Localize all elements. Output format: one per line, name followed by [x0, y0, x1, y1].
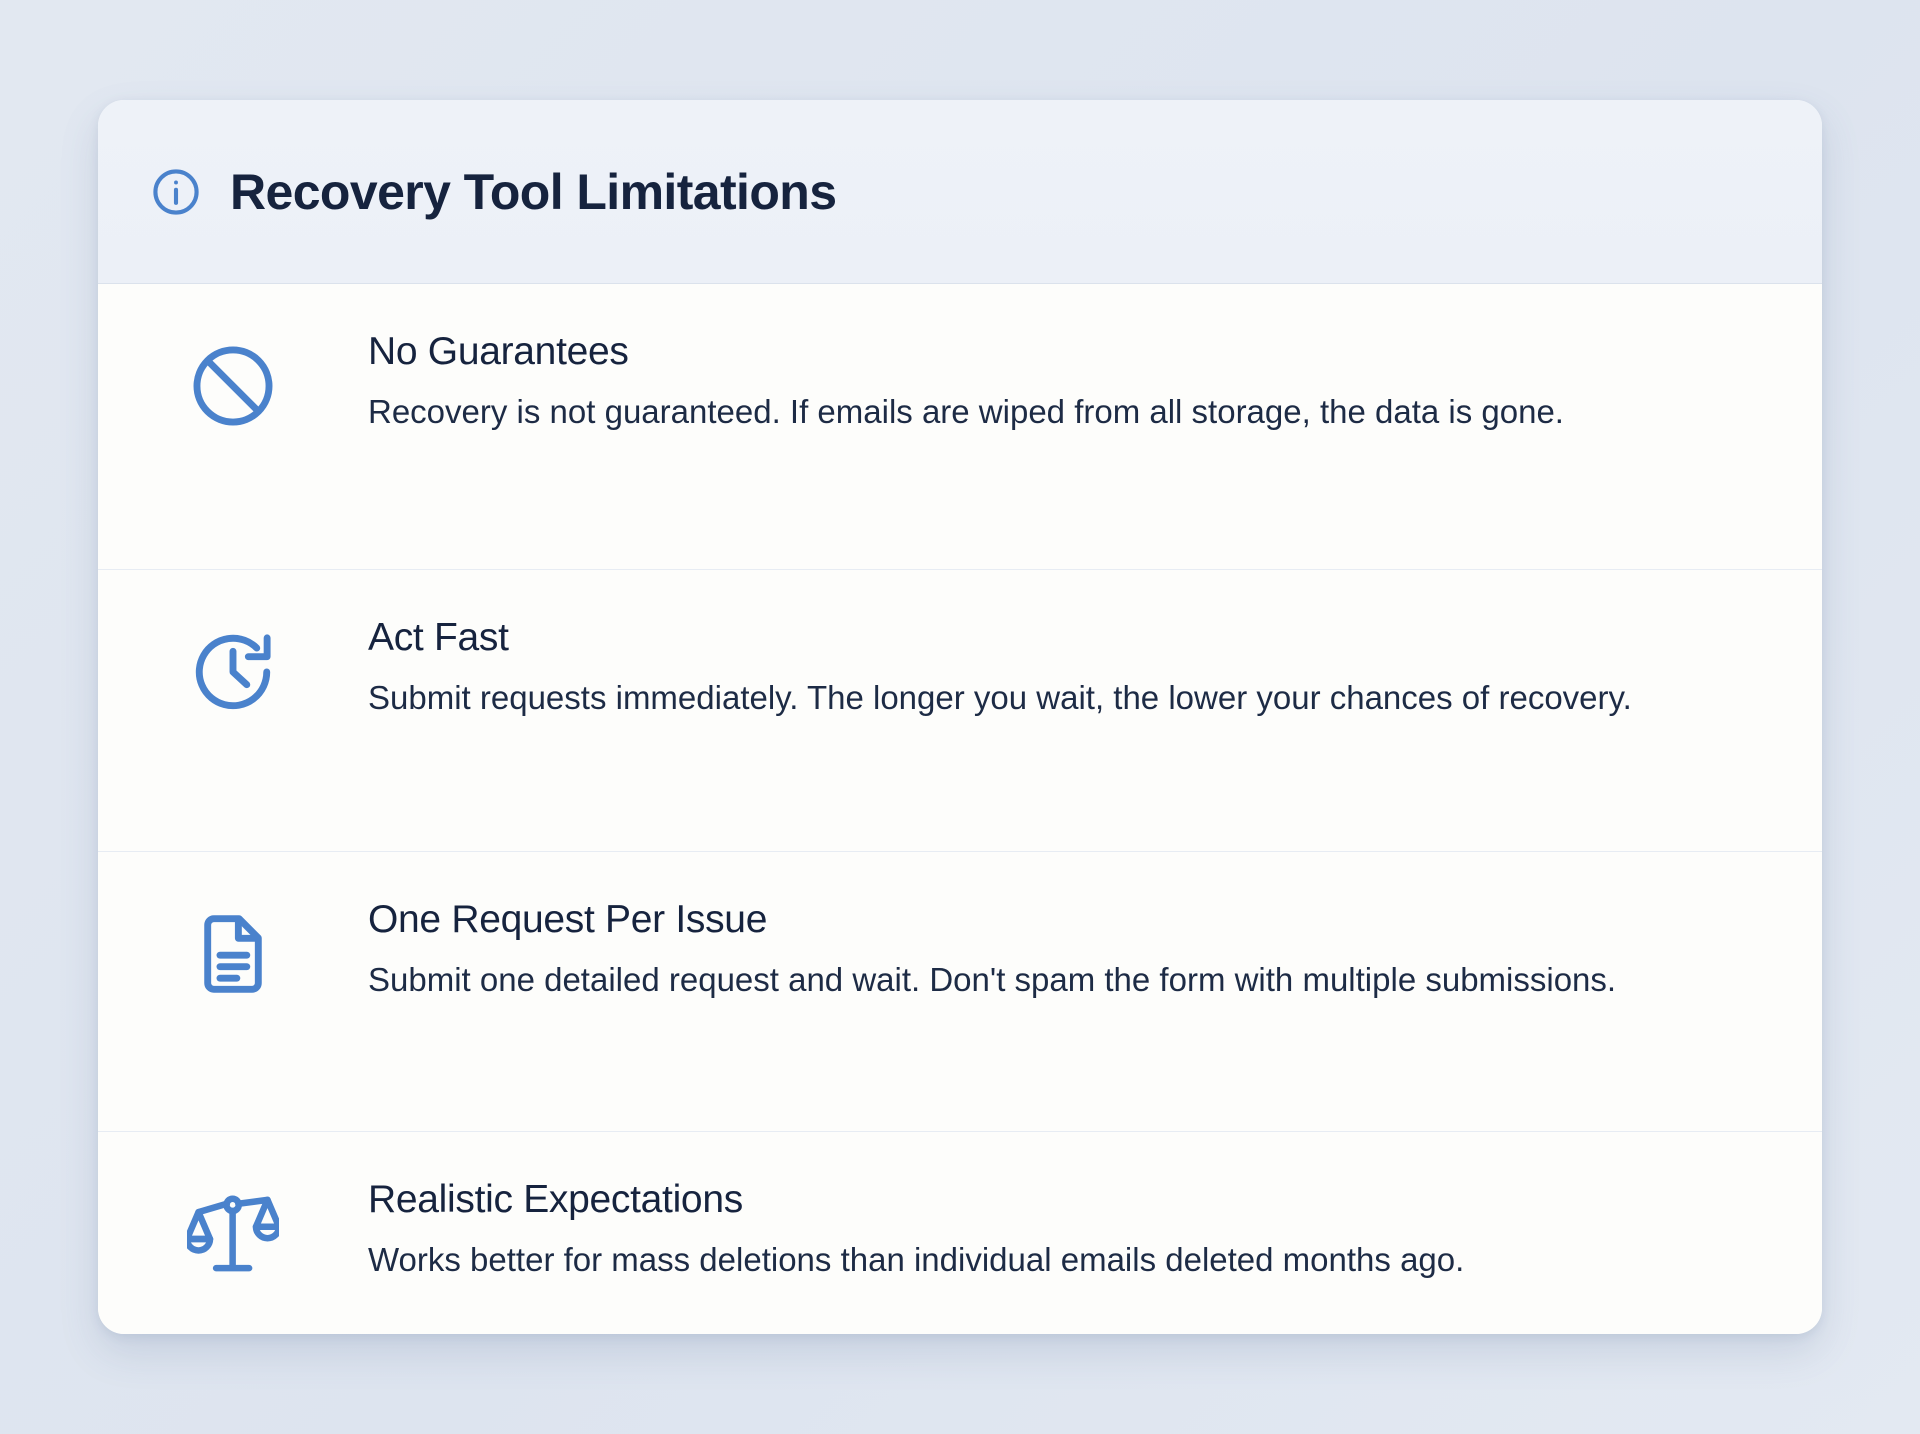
list-item-icon-wrap	[98, 330, 368, 432]
list-item-body: Act Fast Submit requests immediately. Th…	[368, 616, 1762, 722]
document-lines-icon	[187, 908, 279, 1000]
list-item-description: Recovery is not guaranteed. If emails ar…	[368, 389, 1722, 436]
list-item-body: One Request Per Issue Submit one detaile…	[368, 898, 1762, 1004]
scales-balance-icon	[187, 1188, 279, 1280]
list-item-title: No Guarantees	[368, 330, 1722, 375]
card-header: Recovery Tool Limitations	[98, 100, 1822, 284]
list-item: Act Fast Submit requests immediately. Th…	[98, 570, 1822, 852]
list-item: One Request Per Issue Submit one detaile…	[98, 852, 1822, 1132]
list-item-icon-wrap	[98, 1178, 368, 1280]
info-circle-icon	[150, 166, 202, 218]
list-item-title: Realistic Expectations	[368, 1178, 1722, 1223]
no-entry-icon	[187, 340, 279, 432]
list-item-body: Realistic Expectations Works better for …	[368, 1178, 1762, 1284]
recovery-tool-limitations-card: Recovery Tool Limitations No Guarantees …	[98, 100, 1822, 1334]
page-title: Recovery Tool Limitations	[230, 167, 836, 217]
list-item: Realistic Expectations Works better for …	[98, 1132, 1822, 1334]
list-item-body: No Guarantees Recovery is not guaranteed…	[368, 330, 1762, 436]
list-item-title: Act Fast	[368, 616, 1722, 661]
clock-rotate-icon	[187, 626, 279, 718]
list-item-icon-wrap	[98, 898, 368, 1000]
list-item: No Guarantees Recovery is not guaranteed…	[98, 284, 1822, 570]
list-item-description: Submit one detailed request and wait. Do…	[368, 957, 1722, 1004]
list-item-title: One Request Per Issue	[368, 898, 1722, 943]
limitations-list: No Guarantees Recovery is not guaranteed…	[98, 284, 1822, 1334]
list-item-description: Works better for mass deletions than ind…	[368, 1237, 1722, 1284]
list-item-icon-wrap	[98, 616, 368, 718]
list-item-description: Submit requests immediately. The longer …	[368, 675, 1722, 722]
